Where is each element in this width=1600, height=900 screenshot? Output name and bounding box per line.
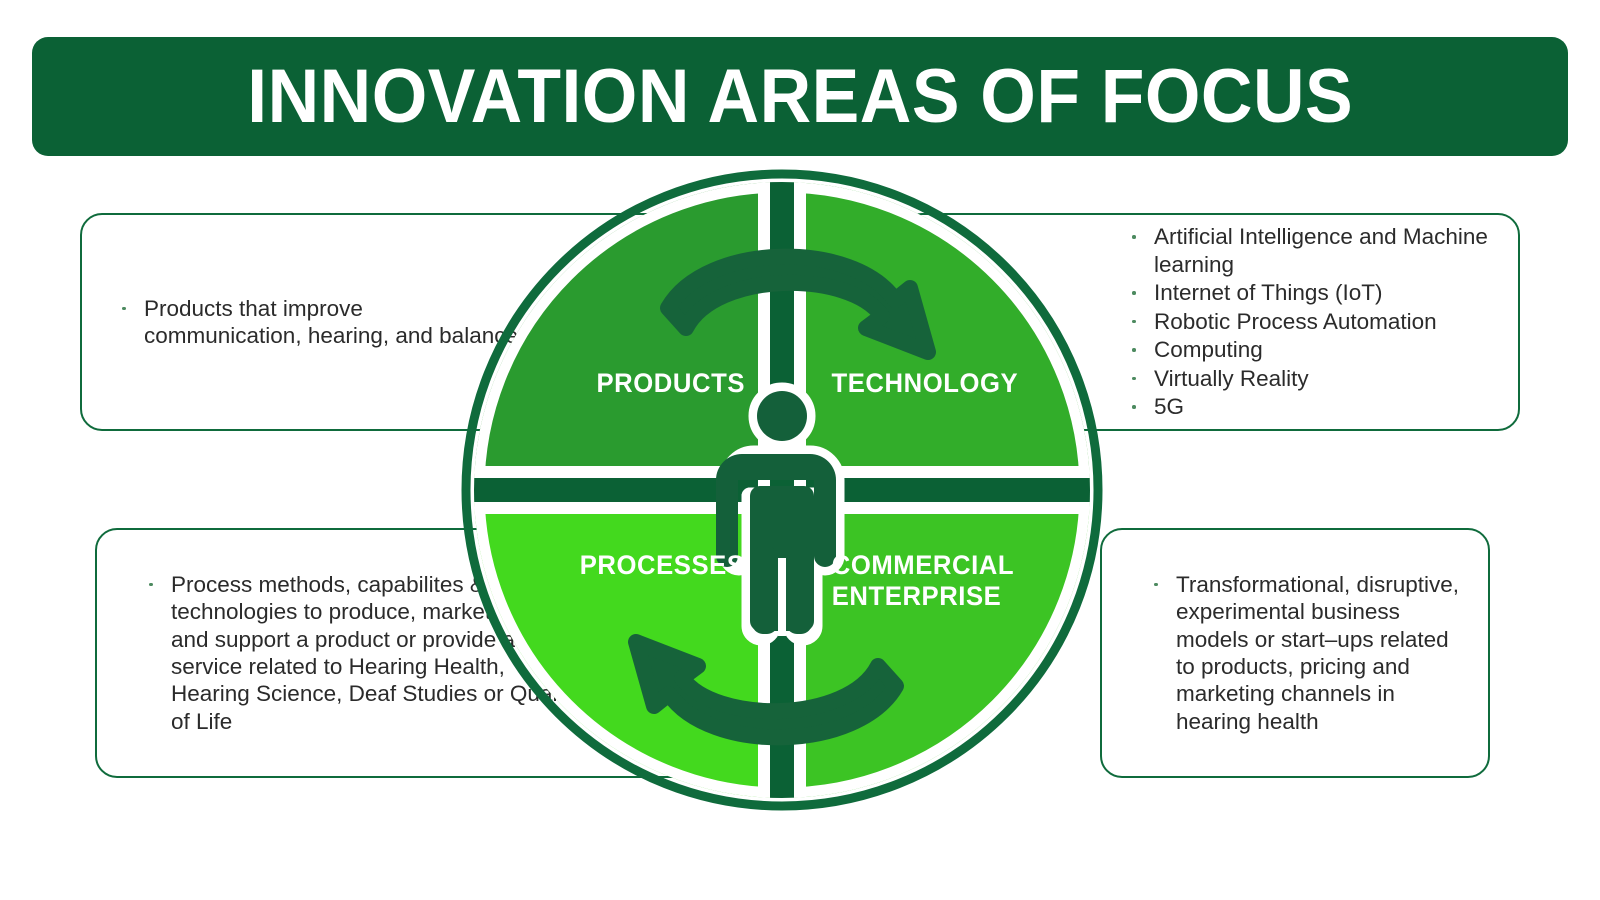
quadrant-label-technology: TECHNOLOGY xyxy=(832,368,1041,399)
person-leg-split xyxy=(778,558,786,636)
infographic-canvas: INNOVATION AREAS OF FOCUS Products that … xyxy=(0,0,1600,900)
page-title: INNOVATION AREAS OF FOCUS xyxy=(247,59,1353,135)
list-item: 5G xyxy=(1128,393,1498,420)
quadrant-label-products: PRODUCTS xyxy=(555,368,745,399)
quadrant-wheel: PRODUCTS TECHNOLOGY PROCESSES COMMERCIAL… xyxy=(458,166,1106,814)
quadrant-label-commercial-enterprise: COMMERCIAL ENTERPRISE xyxy=(832,550,1051,613)
list-item: Artificial Intelligence and Machine lear… xyxy=(1128,223,1498,278)
title-banner: INNOVATION AREAS OF FOCUS xyxy=(32,37,1568,156)
list-item: Virtually Reality xyxy=(1128,365,1498,392)
card-commercial-enterprise: Transformational, disruptive, experiment… xyxy=(1100,528,1490,778)
quadrant-label-processes: PROCESSES xyxy=(536,550,745,581)
list-item: Internet of Things (IoT) xyxy=(1128,279,1498,306)
bullet-list-commercial-enterprise: Transformational, disruptive, experiment… xyxy=(1102,571,1488,736)
list-item: Robotic Process Automation xyxy=(1128,308,1498,335)
list-item: Transformational, disruptive, experiment… xyxy=(1150,571,1472,736)
list-item: Computing xyxy=(1128,336,1498,363)
